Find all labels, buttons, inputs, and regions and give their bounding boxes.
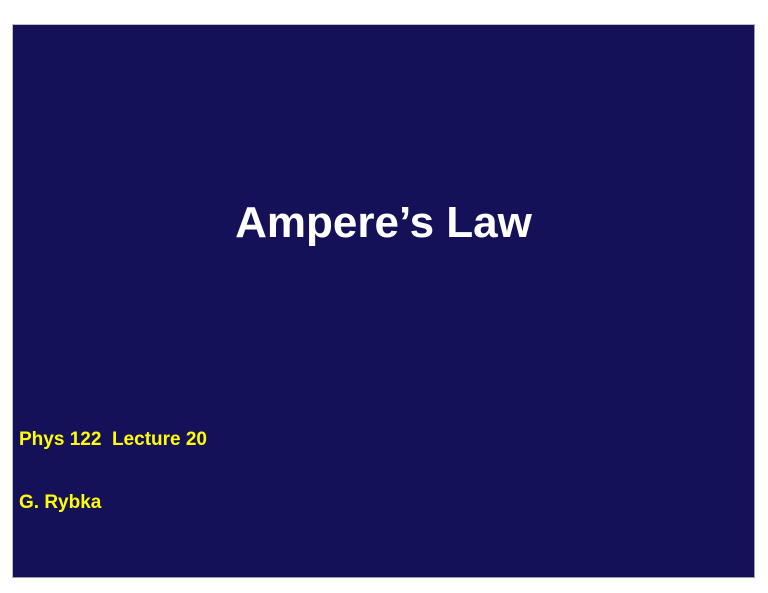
presentation-slide[interactable]: Ampere’s Law Phys 122 Lecture 20 G. Rybk… bbox=[12, 24, 755, 578]
slide-footer: Phys 122 Lecture 20 G. Rybka bbox=[19, 387, 207, 555]
slide-title: Ampere’s Law bbox=[13, 197, 754, 249]
footer-line-author: G. Rybka bbox=[19, 492, 207, 513]
footer-line-course: Phys 122 Lecture 20 bbox=[19, 429, 207, 450]
slide-canvas: Ampere’s Law Phys 122 Lecture 20 G. Rybk… bbox=[0, 0, 768, 593]
